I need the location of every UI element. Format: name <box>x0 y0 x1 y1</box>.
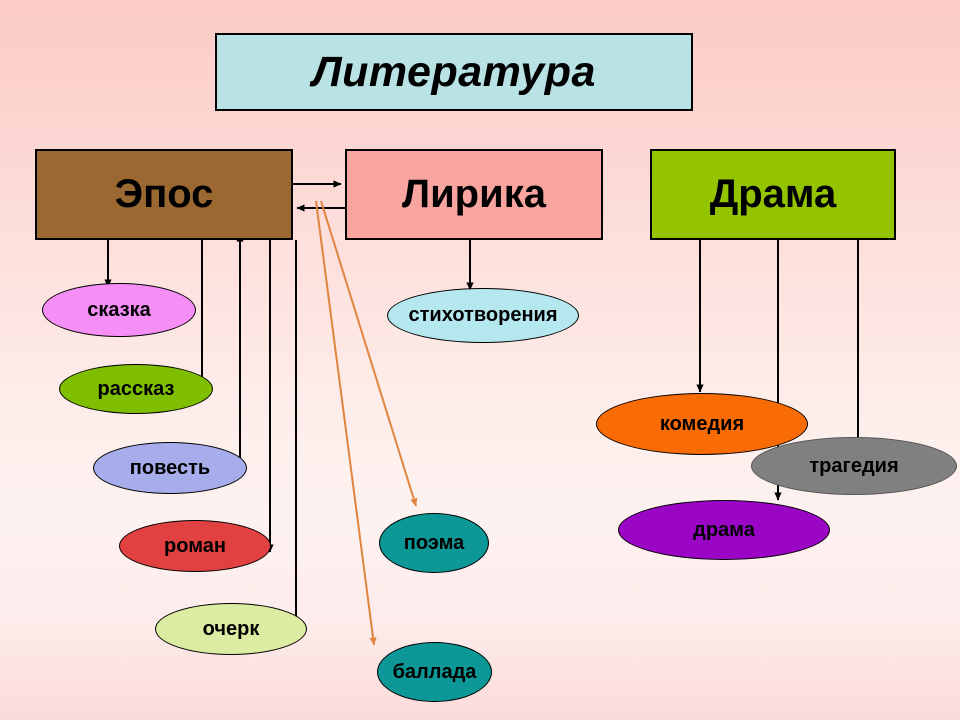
node-tragediya[interactable]: трагедия <box>751 437 957 495</box>
node-ocherk[interactable]: очерк <box>155 603 307 655</box>
node-povest[interactable]: повесть <box>93 442 247 494</box>
diagram-title: Литература <box>312 48 596 97</box>
branch-box-drama[interactable]: Драма <box>650 149 896 240</box>
connector-lirika-poema <box>321 201 416 506</box>
node-label-rasskaz: рассказ <box>98 378 175 401</box>
branch-box-lirika[interactable]: Лирика <box>345 149 603 240</box>
node-label-komediya: комедия <box>660 413 744 436</box>
node-roman[interactable]: роман <box>119 520 271 572</box>
node-rasskaz[interactable]: рассказ <box>59 364 213 414</box>
connector-lirika-ballada <box>316 201 374 645</box>
node-label-drama: драма <box>693 519 755 542</box>
branch-box-epos[interactable]: Эпос <box>35 149 293 240</box>
node-label-ballada: баллада <box>393 661 477 684</box>
node-label-skazka: сказка <box>87 299 151 322</box>
node-label-povest: повесть <box>130 457 210 480</box>
branch-label-drama: Драма <box>710 172 836 217</box>
node-label-roman: роман <box>164 535 226 558</box>
node-poema[interactable]: поэма <box>379 513 489 573</box>
diagram-title-box: Литература <box>215 33 693 111</box>
node-label-tragediya: трагедия <box>809 455 898 478</box>
branch-label-lirika: Лирика <box>402 172 546 217</box>
node-skazka[interactable]: сказка <box>42 283 196 337</box>
node-stihotvoreniya[interactable]: стихотворения <box>387 288 579 343</box>
branch-label-epos: Эпос <box>115 172 214 217</box>
node-label-stihotvoreniya: стихотворения <box>409 304 558 327</box>
node-label-ocherk: очерк <box>203 618 260 641</box>
node-ballada[interactable]: баллада <box>377 642 492 702</box>
node-label-poema: поэма <box>404 532 464 555</box>
node-drama[interactable]: драма <box>618 500 830 560</box>
node-komediya[interactable]: комедия <box>596 393 808 455</box>
diagram-canvas: Литература Эпос Лирика Драма сказка расс… <box>0 0 960 720</box>
